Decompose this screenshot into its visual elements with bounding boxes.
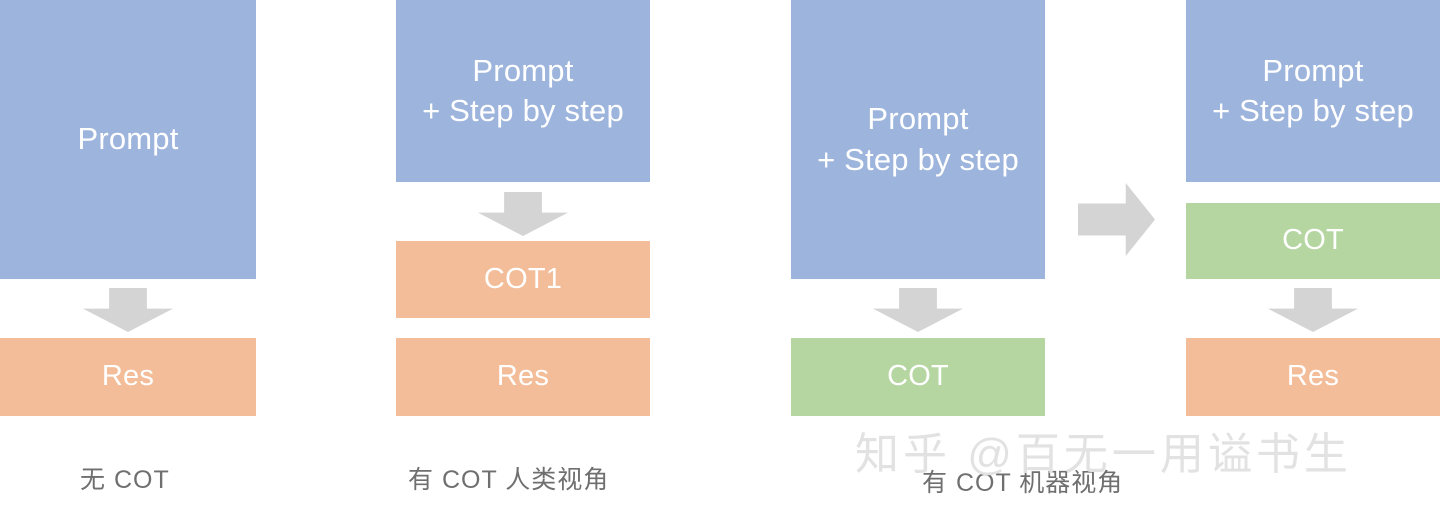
col4-cot-label: COT bbox=[1282, 222, 1344, 260]
col2-res-box: Res bbox=[396, 338, 650, 416]
col2-cot1-box: COT1 bbox=[396, 241, 650, 318]
col4-down-arrow-icon bbox=[1268, 288, 1358, 332]
col3-cot-label: COT bbox=[887, 358, 949, 396]
col3-prompt-box: Prompt + Step by step bbox=[791, 0, 1045, 279]
col1-caption: 无 COT bbox=[80, 460, 170, 496]
col4-res-box: Res bbox=[1186, 338, 1440, 416]
col1-prompt-box: Prompt bbox=[0, 0, 256, 279]
col4-prompt-label: Prompt + Step by step bbox=[1212, 51, 1414, 132]
col1-down-arrow-icon bbox=[83, 288, 173, 332]
col3-caption: 有 COT 机器视角 bbox=[922, 463, 1123, 499]
transition-right-arrow-icon bbox=[1078, 183, 1155, 256]
col1-prompt-label: Prompt bbox=[77, 119, 178, 159]
col2-cot1-label: COT1 bbox=[484, 261, 562, 299]
col2-res-label: Res bbox=[497, 358, 549, 396]
col1-res-label: Res bbox=[102, 358, 154, 396]
col2-caption: 有 COT 人类视角 bbox=[408, 460, 609, 496]
diagram-canvas: Prompt Res 无 COT Prompt + Step by step C… bbox=[0, 0, 1440, 514]
col1-res-box: Res bbox=[0, 338, 256, 416]
col3-prompt-label: Prompt + Step by step bbox=[817, 99, 1019, 180]
col2-down-arrow-icon bbox=[478, 192, 568, 236]
col4-cot-box: COT bbox=[1186, 203, 1440, 279]
col2-prompt-box: Prompt + Step by step bbox=[396, 0, 650, 182]
col2-prompt-label: Prompt + Step by step bbox=[422, 51, 624, 132]
col4-res-label: Res bbox=[1287, 358, 1339, 396]
col3-down-arrow-icon bbox=[873, 288, 963, 332]
col3-cot-box: COT bbox=[791, 338, 1045, 416]
col4-prompt-box: Prompt + Step by step bbox=[1186, 0, 1440, 182]
